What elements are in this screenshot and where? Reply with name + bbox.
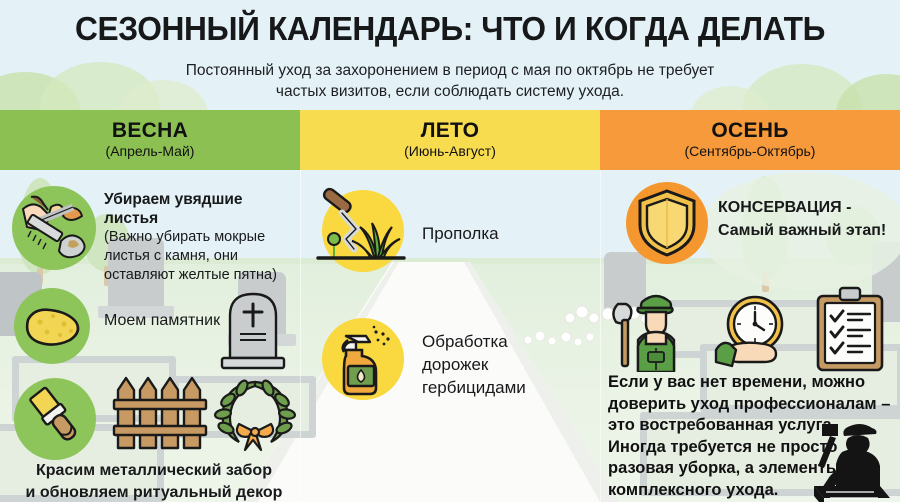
autumn-item-1-line-1: КОНСЕРВАЦИЯ - bbox=[718, 196, 898, 219]
spring-item-1-text: Убираем увядшие листья (Важно убирать мо… bbox=[104, 190, 300, 285]
header: СЕЗОННЫЙ КАЛЕНДАРЬ: ЧТО И КОГДА ДЕЛАТЬ П… bbox=[0, 0, 900, 110]
season-name-summer: ЛЕТО bbox=[421, 119, 480, 142]
season-name-autumn: ОСЕНЬ bbox=[711, 119, 788, 142]
wooden-fence-icon bbox=[112, 374, 208, 452]
season-months-autumn: (Сентябрь-Октябрь) bbox=[685, 142, 816, 161]
season-band-spring: ВЕСНА (Апрель-Май) bbox=[0, 110, 300, 170]
spring-caption-line-2: и обновляем ритуальный декор bbox=[8, 482, 300, 502]
headstone-cross-icon bbox=[216, 286, 290, 374]
season-band-autumn: ОСЕНЬ (Сентябрь-Октябрь) bbox=[600, 110, 900, 170]
season-months-spring: (Апрель-Май) bbox=[106, 142, 195, 161]
spring-item-1-note-3: оставляют желтые пятна) bbox=[104, 266, 300, 285]
rake-leaves-icon bbox=[12, 186, 96, 270]
season-band-row: ВЕСНА (Апрель-Май) ЛЕТО (Июнь-Август) ОС… bbox=[0, 110, 900, 170]
page-title: СЕЗОННЫЙ КАЛЕНДАРЬ: ЧТО И КОГДА ДЕЛАТЬ bbox=[18, 10, 882, 48]
page-subtitle: Постоянный уход за захоронением в период… bbox=[110, 60, 790, 102]
pro-text-line-1: Если у вас нет времени, можно bbox=[608, 372, 896, 394]
checklist-clipboard-icon bbox=[812, 286, 890, 374]
season-name-spring: ВЕСНА bbox=[112, 119, 188, 142]
spring-caption-line-1: Красим металлический забор bbox=[8, 460, 300, 482]
spring-item-1-lead: Убираем увядшие листья bbox=[104, 190, 300, 228]
summer-item-2-line-1: Обработка bbox=[422, 330, 526, 353]
spring-item-1-note-2: листья с камня, они bbox=[104, 247, 300, 266]
spray-bottle-icon bbox=[322, 318, 404, 400]
column-spring: Убираем увядшие листья (Важно убирать мо… bbox=[0, 170, 300, 502]
summer-item-2-line-3: гербицидами bbox=[422, 376, 526, 399]
pro-text-line-2: доверить уход профессионалам – bbox=[608, 394, 896, 416]
summer-item-2-text: Обработка дорожек гербицидами bbox=[422, 330, 526, 399]
hand-clock-icon bbox=[710, 292, 800, 372]
paint-brush-icon bbox=[14, 378, 96, 460]
subtitle-line-1: Постоянный уход за захоронением в период… bbox=[110, 60, 790, 81]
subtitle-line-2: частых визитов, если соблюдать систему у… bbox=[110, 81, 790, 102]
spring-item-1-note-1: (Важно убирать мокрые bbox=[104, 228, 300, 247]
summer-item-1-lead: Прополка bbox=[422, 224, 499, 244]
spring-item-2-lead: Моем памятник bbox=[104, 312, 220, 330]
hoe-weeding-icon bbox=[322, 190, 404, 272]
infographic-page: СЕЗОННЫЙ КАЛЕНДАРЬ: ЧТО И КОГДА ДЕЛАТЬ П… bbox=[0, 0, 900, 502]
sponge-icon bbox=[14, 288, 90, 364]
worker-shovel-icon bbox=[608, 286, 694, 372]
season-months-summer: (Июнь-Август) bbox=[404, 142, 496, 161]
shield-icon bbox=[626, 182, 708, 264]
stonemason-engraving-icon bbox=[800, 418, 900, 502]
spring-item-3-caption: Красим металлический забор и обновляем р… bbox=[8, 460, 300, 502]
laurel-wreath-bow-icon bbox=[212, 376, 298, 452]
autumn-item-1-line-2: Самый важный этап! bbox=[718, 219, 898, 242]
autumn-item-1-text: КОНСЕРВАЦИЯ - Самый важный этап! bbox=[718, 196, 898, 242]
summer-item-2-line-2: дорожек bbox=[422, 353, 526, 376]
season-band-summer: ЛЕТО (Июнь-Август) bbox=[300, 110, 600, 170]
column-summer: Прополка bbox=[300, 170, 600, 502]
